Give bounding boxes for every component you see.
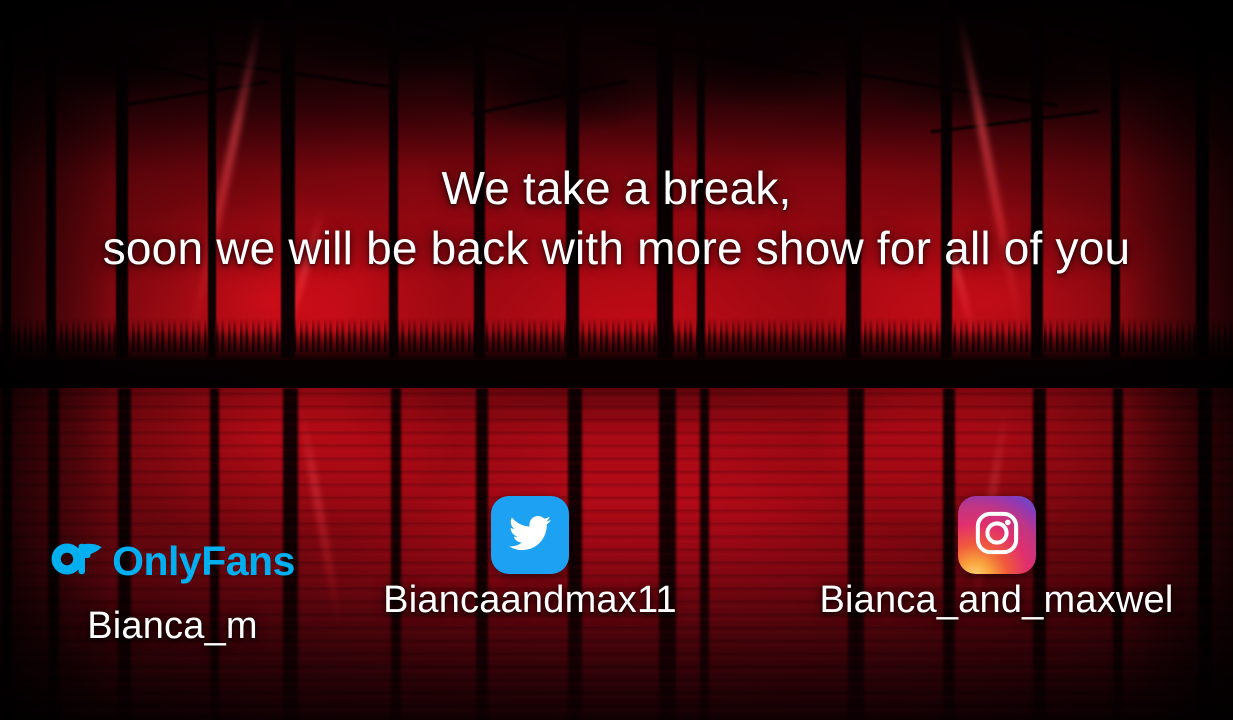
onlyfans-icon	[50, 542, 102, 581]
onlyfans-wordmark: OnlyFans	[112, 538, 295, 585]
instagram-handle: Bianca_and_maxwel	[760, 578, 1233, 622]
onlyfans-lockup: OnlyFans	[0, 518, 345, 604]
instagram-camera-icon	[970, 506, 1024, 565]
twitter-tile	[330, 492, 730, 578]
twitter-bird-icon	[505, 512, 555, 559]
instagram-tile	[760, 492, 1233, 578]
social-twitter[interactable]: Biancaandmax11	[330, 492, 730, 622]
stream-break-screen: We take a break, soon we will be back wi…	[0, 0, 1233, 720]
overlay-content: We take a break, soon we will be back wi…	[0, 0, 1233, 720]
social-onlyfans[interactable]: OnlyFans Bianca_m	[0, 518, 345, 648]
social-instagram[interactable]: Bianca_and_maxwel	[760, 492, 1233, 622]
break-message-line-2: soon we will be back with more show for …	[0, 218, 1233, 278]
onlyfans-handle: Bianca_m	[0, 604, 345, 648]
break-message-line-1: We take a break,	[441, 162, 791, 214]
social-links-row: OnlyFans Bianca_m Biancaandma	[0, 492, 1233, 652]
twitter-handle: Biancaandmax11	[330, 578, 730, 622]
break-message: We take a break, soon we will be back wi…	[0, 158, 1233, 278]
